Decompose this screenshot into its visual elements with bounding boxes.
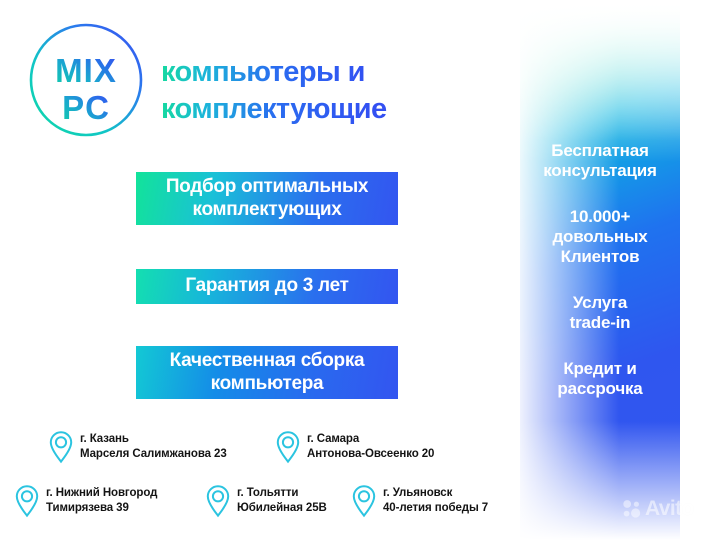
location-address: Марселя Салимжанова 23 bbox=[80, 448, 227, 460]
avito-label: Avito bbox=[645, 497, 694, 521]
location-address: Юбилейная 25В bbox=[237, 502, 327, 514]
location-text: г. Нижний НовгородТимирязева 39 bbox=[46, 486, 157, 517]
benefit-item: Бесплатная консультация bbox=[543, 141, 657, 181]
avito-watermark: Avito bbox=[622, 497, 694, 521]
location-city: г. Ульяновск bbox=[383, 487, 452, 499]
location-city: г. Тольятти bbox=[237, 487, 298, 499]
feature-box: Качественная сборка компьютера bbox=[136, 346, 398, 399]
benefits-panel: Бесплатная консультация 10.000+ довольны… bbox=[520, 0, 680, 540]
page-title: компьютеры и комплектующие bbox=[161, 54, 461, 128]
map-pin-icon bbox=[14, 484, 40, 518]
benefit-item: 10.000+ довольных Клиентов bbox=[552, 207, 647, 267]
location-address: Антонова-Овсеенко 20 bbox=[307, 448, 434, 460]
feature-box: Гарантия до 3 лет bbox=[136, 269, 398, 304]
map-pin-icon bbox=[275, 430, 301, 464]
location-city: г. Нижний Новгород bbox=[46, 487, 157, 499]
map-pin-icon bbox=[205, 484, 231, 518]
avito-logo-icon bbox=[622, 499, 642, 519]
headline-line-1: компьютеры и bbox=[161, 54, 461, 91]
location-text: г. ТольяттиЮбилейная 25В bbox=[237, 486, 327, 517]
advertisement-banner: Бесплатная консультация 10.000+ довольны… bbox=[0, 0, 720, 540]
brand-logo: MIX PC bbox=[26, 20, 146, 140]
location-text: г. КазаньМарселя Салимжанова 23 bbox=[80, 432, 227, 463]
map-pin-icon bbox=[48, 430, 74, 464]
location-item: г. ТольяттиЮбилейная 25В bbox=[205, 484, 327, 518]
location-address: Тимирязева 39 bbox=[46, 502, 129, 514]
location-item: г. Ульяновск40-летия победы 7 bbox=[351, 484, 488, 518]
logo-text-pc: PC bbox=[62, 89, 110, 126]
location-item: г. СамараАнтонова-Овсеенко 20 bbox=[275, 430, 434, 464]
location-city: г. Казань bbox=[80, 433, 129, 445]
headline-line-2: комплектующие bbox=[161, 91, 461, 128]
benefit-item: Услуга trade-in bbox=[570, 293, 631, 333]
benefits-list: Бесплатная консультация 10.000+ довольны… bbox=[520, 0, 680, 540]
map-pin-icon bbox=[351, 484, 377, 518]
location-address: 40-летия победы 7 bbox=[383, 502, 488, 514]
feature-box: Подбор оптимальных комплектующих bbox=[136, 172, 398, 225]
location-text: г. СамараАнтонова-Овсеенко 20 bbox=[307, 432, 434, 463]
location-item: г. КазаньМарселя Салимжанова 23 bbox=[48, 430, 227, 464]
location-item: г. Нижний НовгородТимирязева 39 bbox=[14, 484, 157, 518]
logo-text-mix: MIX bbox=[55, 52, 117, 89]
logo-circle-icon: MIX PC bbox=[26, 20, 146, 140]
location-text: г. Ульяновск40-летия победы 7 bbox=[383, 486, 488, 517]
location-city: г. Самара bbox=[307, 433, 359, 445]
benefit-item: Кредит и рассрочка bbox=[557, 359, 642, 399]
